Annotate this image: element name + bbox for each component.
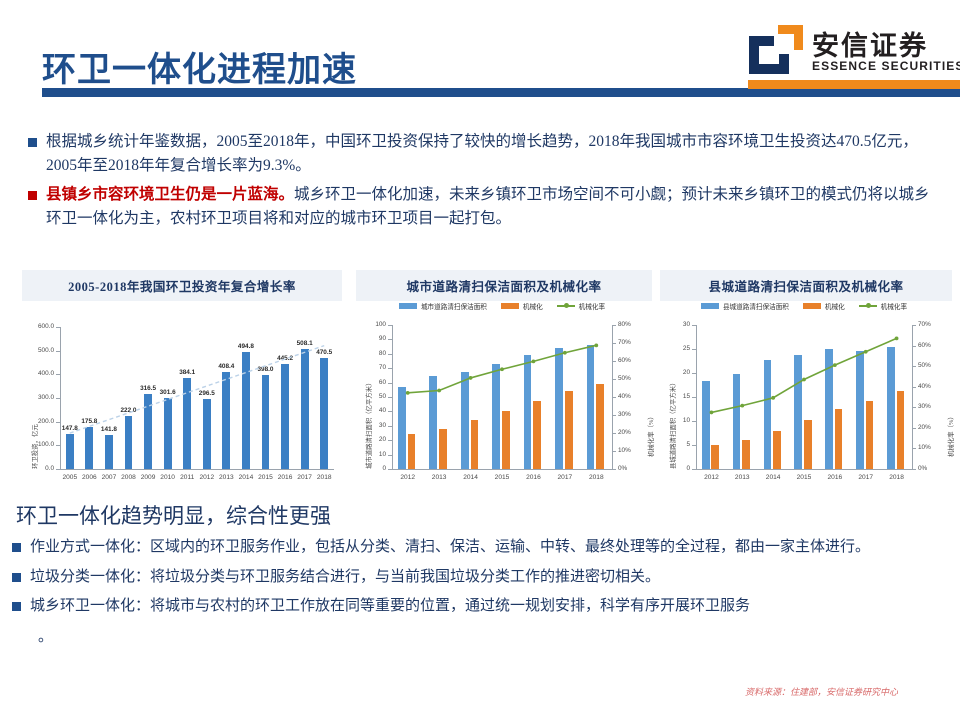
bottom-trailing-punctuation: 。 bbox=[38, 625, 952, 646]
bullet-text: 根据城乡统计年鉴数据，2005至2018年，中国环卫投资保持了较快的增长趋势，2… bbox=[46, 130, 940, 178]
slide: 环卫一体化进程加速 安信证券 ESSENCE SECURITIES 根据城乡统计… bbox=[0, 0, 960, 720]
legend-item: 机械化率 bbox=[859, 301, 907, 311]
line-series bbox=[356, 301, 652, 487]
line-series bbox=[660, 301, 952, 487]
chart-plot-area: 0.0100.0200.0300.0400.0500.0600.0环卫投资，亿元… bbox=[22, 301, 342, 487]
bullet-item: 垃圾分类一体化：将垃圾分类与环卫服务结合进行，与当前我国垃圾分类工作的推进密切相… bbox=[12, 566, 952, 589]
company-logo: 安信证券 ESSENCE SECURITIES bbox=[748, 24, 948, 86]
bullet-lead-highlight: 县镇乡市容环境卫生仍是一片蓝海。 bbox=[46, 186, 294, 203]
bullet-text: 垃圾分类一体化：将垃圾分类与环卫服务结合进行，与当前我国垃圾分类工作的推进密切相… bbox=[30, 566, 660, 589]
legend-item: 机械化率 bbox=[557, 301, 605, 311]
legend-item: 机械化 bbox=[803, 301, 845, 311]
chart-legend: 城市道路清扫保洁面积机械化机械化率 bbox=[386, 301, 618, 311]
legend-label: 机械化率 bbox=[881, 301, 907, 311]
top-bullet-list: 根据城乡统计年鉴数据，2005至2018年，中国环卫投资保持了较快的增长趋势，2… bbox=[28, 130, 940, 236]
bullet-square-icon bbox=[12, 543, 21, 552]
legend-label: 县城道路清扫保洁面积 bbox=[723, 301, 789, 311]
legend-label: 城市道路清扫保洁面积 bbox=[421, 301, 487, 311]
bullet-square-icon bbox=[12, 573, 21, 582]
source-note: 资料来源：住建部，安信证券研究中心 bbox=[745, 685, 898, 698]
bullet-item: 县镇乡市容环境卫生仍是一片蓝海。城乡环卫一体化加速，未来乡镇环卫市场空间不可小觑… bbox=[28, 183, 940, 231]
chart-title: 城市道路清扫保洁面积及机械化率 bbox=[356, 270, 652, 301]
bullet-item: 作业方式一体化：区域内的环卫服务作业，包括从分类、清扫、保洁、运输、中转、最终处… bbox=[12, 536, 952, 559]
legend-item: 城市道路清扫保洁面积 bbox=[399, 301, 487, 311]
legend-swatch bbox=[803, 303, 821, 309]
chart-title: 县城道路清扫保洁面积及机械化率 bbox=[660, 270, 952, 301]
legend-swatch bbox=[399, 303, 417, 309]
chart-title: 2005-2018年我国环卫投资年复合增长率 bbox=[22, 270, 342, 301]
bullet-text: 作业方式一体化：区域内的环卫服务作业，包括从分类、清扫、保洁、运输、中转、最终处… bbox=[30, 536, 870, 559]
legend-swatch bbox=[501, 303, 519, 309]
legend-label: 机械化 bbox=[825, 301, 845, 311]
bullet-text: 县镇乡市容环境卫生仍是一片蓝海。城乡环卫一体化加速，未来乡镇环卫市场空间不可小觑… bbox=[46, 183, 940, 231]
title-underline-blue bbox=[42, 88, 960, 97]
bullet-square-icon bbox=[12, 602, 21, 611]
bullet-item: 城乡环卫一体化：将城市与农村的环卫工作放在同等重要的位置，通过统一规划安排，科学… bbox=[12, 595, 952, 618]
page-title: 环卫一体化进程加速 bbox=[42, 42, 357, 91]
legend-label: 机械化 bbox=[523, 301, 543, 311]
logo-text-cn: 安信证券 bbox=[812, 24, 928, 63]
chart-invest: 2005-2018年我国环卫投资年复合增长率 0.0100.0200.0300.… bbox=[22, 270, 342, 487]
bullet-square-icon bbox=[28, 138, 37, 147]
bullet-text: 城乡环卫一体化：将城市与农村的环卫工作放在同等重要的位置，通过统一规划安排，科学… bbox=[30, 595, 750, 618]
trendline bbox=[22, 301, 342, 487]
chart-city-road: 城市道路清扫保洁面积及机械化率 01020304050607080901000%… bbox=[356, 270, 652, 487]
legend-line-swatch bbox=[859, 305, 877, 307]
chart-county-road: 县城道路清扫保洁面积及机械化率 0510152025300%10%20%30%4… bbox=[660, 270, 952, 487]
legend-item: 县城道路清扫保洁面积 bbox=[701, 301, 789, 311]
legend-swatch bbox=[701, 303, 719, 309]
slide-header: 环卫一体化进程加速 安信证券 ESSENCE SECURITIES bbox=[0, 0, 960, 105]
legend-item: 机械化 bbox=[501, 301, 543, 311]
bottom-section: 环卫一体化趋势明显，综合性更强 作业方式一体化：区域内的环卫服务作业，包括从分类… bbox=[12, 500, 952, 646]
title-underline bbox=[0, 88, 960, 97]
logo-text-en: ESSENCE SECURITIES bbox=[812, 59, 960, 73]
legend-label: 机械化率 bbox=[579, 301, 605, 311]
chart-plot-area: 0510152025300%10%20%30%40%50%60%70%县城道路清… bbox=[660, 301, 952, 487]
charts-row: 2005-2018年我国环卫投资年复合增长率 0.0100.0200.0300.… bbox=[0, 270, 960, 495]
bottom-heading: 环卫一体化趋势明显，综合性更强 bbox=[16, 500, 952, 530]
chart-legend: 县城道路清扫保洁面积机械化机械化率 bbox=[690, 301, 918, 311]
chart-plot-area: 01020304050607080901000%10%20%30%40%50%6… bbox=[356, 301, 652, 487]
bullet-square-icon bbox=[28, 191, 37, 200]
logo-mark-icon bbox=[748, 24, 804, 76]
bullet-item: 根据城乡统计年鉴数据，2005至2018年，中国环卫投资保持了较快的增长趋势，2… bbox=[28, 130, 940, 178]
legend-line-swatch bbox=[557, 305, 575, 307]
